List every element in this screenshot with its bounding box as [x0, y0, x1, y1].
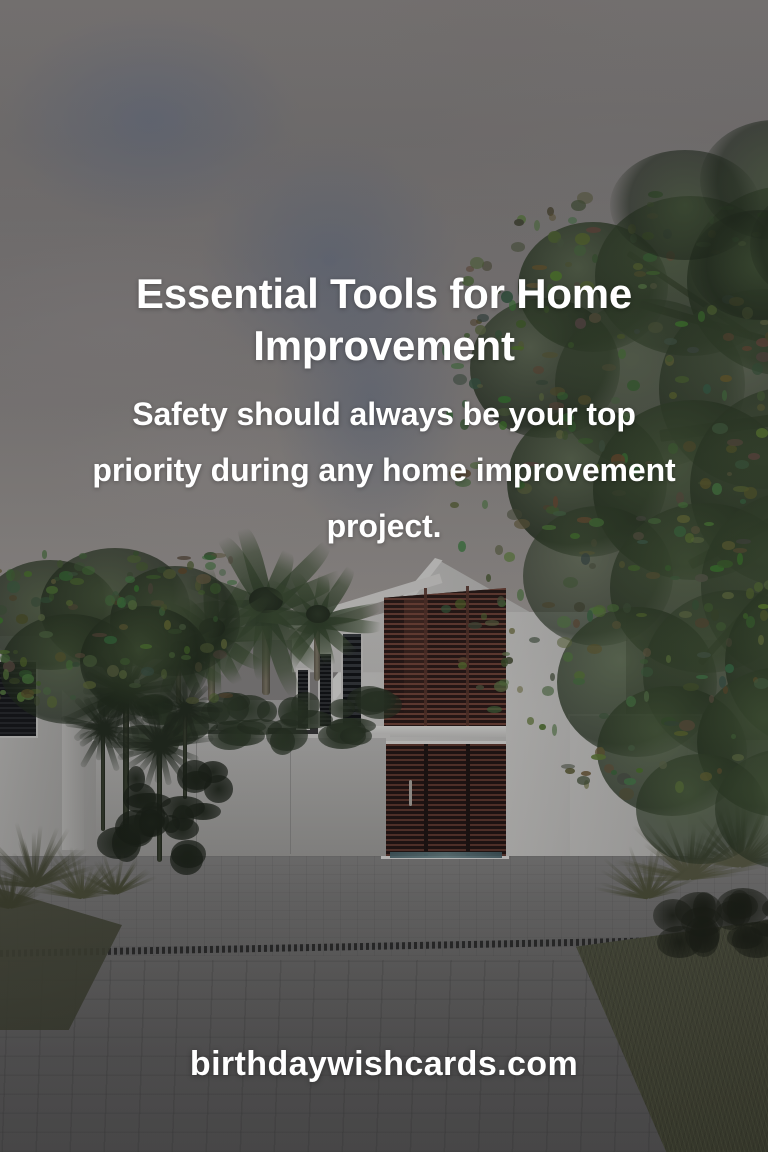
pin-card: Essential Tools for Home Improvement Saf… — [0, 0, 768, 1152]
page-title: Essential Tools for Home Improvement — [64, 268, 704, 372]
text-layer: Essential Tools for Home Improvement Saf… — [0, 0, 768, 1152]
site-watermark: birthdaywishcards.com — [0, 1042, 768, 1086]
page-subtitle: Safety should always be your top priorit… — [80, 386, 688, 554]
